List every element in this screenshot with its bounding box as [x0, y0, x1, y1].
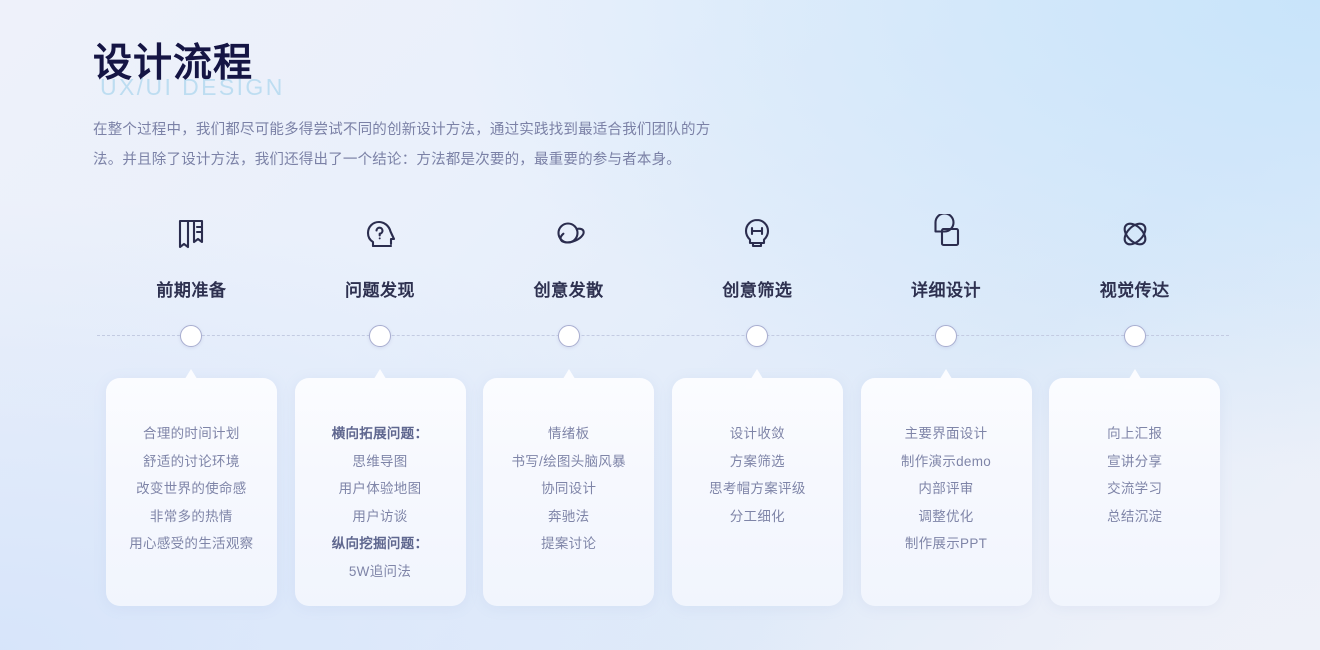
step-label: 创意发散	[534, 276, 604, 301]
planet-icon	[547, 212, 591, 256]
list-item: 用心感受的生活观察	[106, 530, 277, 558]
list-item: 改变世界的使命感	[106, 475, 277, 503]
step-1[interactable]: 前期准备	[97, 212, 286, 301]
timeline-dot[interactable]	[746, 325, 768, 347]
card-slot-3: 情绪板书写/绘图头脑风暴协同设计奔驰法提案讨论	[474, 368, 663, 606]
list-item: 调整优化	[861, 503, 1032, 531]
list-item: 向上汇报	[1049, 420, 1220, 448]
step-label: 视觉传达	[1100, 276, 1170, 301]
list-item: 设计收敛	[672, 420, 843, 448]
card-item-list: 情绪板书写/绘图头脑风暴协同设计奔驰法提案讨论	[483, 420, 654, 558]
list-item: 制作展示PPT	[861, 530, 1032, 558]
list-item: 纵向挖掘问题：	[295, 530, 466, 558]
step-card[interactable]: 合理的时间计划舒适的讨论环境改变世界的使命感非常多的热情用心感受的生活观察	[106, 378, 277, 606]
circle-square-overlap-icon	[924, 212, 968, 256]
list-item: 协同设计	[483, 475, 654, 503]
step-card[interactable]: 主要界面设计制作演示demo内部评审调整优化制作展示PPT	[861, 378, 1032, 606]
timeline-dot[interactable]	[369, 325, 391, 347]
timeline-dot-cell-2	[286, 324, 475, 348]
card-slot-1: 合理的时间计划舒适的讨论环境改变世界的使命感非常多的热情用心感受的生活观察	[97, 368, 286, 606]
timeline-dot-cell-4	[663, 324, 852, 348]
list-item: 合理的时间计划	[106, 420, 277, 448]
timeline-dot-cell-3	[474, 324, 663, 348]
card-item-list: 向上汇报宣讲分享交流学习总结沉淀	[1049, 420, 1220, 530]
list-item: 用户体验地图	[295, 475, 466, 503]
title-group: 设计流程 UX/UI DESIGN	[93, 38, 253, 102]
list-item: 主要界面设计	[861, 420, 1032, 448]
step-card[interactable]: 设计收敛方案筛选思考帽方案评级分工细化	[672, 378, 843, 606]
cards-row: 合理的时间计划舒适的讨论环境改变世界的使命感非常多的热情用心感受的生活观察横向拓…	[97, 368, 1229, 606]
card-slot-4: 设计收敛方案筛选思考帽方案评级分工细化	[663, 368, 852, 606]
list-item: 书写/绘图头脑风暴	[483, 448, 654, 476]
list-item: 舒适的讨论环境	[106, 448, 277, 476]
timeline-dot[interactable]	[180, 325, 202, 347]
step-6[interactable]: 视觉传达	[1040, 212, 1229, 301]
list-item: 情绪板	[483, 420, 654, 448]
page-header: 设计流程 UX/UI DESIGN	[93, 38, 253, 102]
card-slot-5: 主要界面设计制作演示demo内部评审调整优化制作展示PPT	[852, 368, 1041, 606]
list-item: 提案讨论	[483, 530, 654, 558]
list-item: 内部评审	[861, 475, 1032, 503]
timeline-dot-cell-5	[852, 324, 1041, 348]
step-2[interactable]: 问题发现	[286, 212, 475, 301]
card-item-list: 主要界面设计制作演示demo内部评审调整优化制作展示PPT	[861, 420, 1032, 558]
page-title: 设计流程	[93, 38, 253, 90]
steps-row: 前期准备 问题发现 创意发散	[97, 212, 1229, 301]
step-5[interactable]: 详细设计	[852, 212, 1041, 301]
step-label: 前期准备	[156, 276, 226, 301]
step-card[interactable]: 向上汇报宣讲分享交流学习总结沉淀	[1049, 378, 1220, 606]
step-label: 问题发现	[345, 276, 415, 301]
step-label: 详细设计	[911, 276, 981, 301]
list-item: 宣讲分享	[1049, 448, 1220, 476]
lightbulb-icon	[735, 212, 779, 256]
card-item-list: 横向拓展问题：思维导图用户体验地图用户访谈纵向挖掘问题：5W追问法	[295, 420, 466, 585]
list-item: 交流学习	[1049, 475, 1220, 503]
list-item: 总结沉淀	[1049, 503, 1220, 531]
step-card[interactable]: 情绪板书写/绘图头脑风暴协同设计奔驰法提案讨论	[483, 378, 654, 606]
list-item: 思考帽方案评级	[672, 475, 843, 503]
card-slot-2: 横向拓展问题：思维导图用户体验地图用户访谈纵向挖掘问题：5W追问法	[286, 368, 475, 606]
step-4[interactable]: 创意筛选	[663, 212, 852, 301]
bookmark-document-icon	[169, 212, 213, 256]
card-item-list: 设计收敛方案筛选思考帽方案评级分工细化	[672, 420, 843, 530]
list-item: 横向拓展问题：	[295, 420, 466, 448]
page-description: 在整个过程中，我们都尽可能多得尝试不同的创新设计方法，通过实践找到最适合我们团队…	[93, 115, 793, 175]
list-item: 奔驰法	[483, 503, 654, 531]
timeline-dot[interactable]	[1124, 325, 1146, 347]
timeline-dot[interactable]	[935, 325, 957, 347]
design-process-page: 设计流程 UX/UI DESIGN 在整个过程中，我们都尽可能多得尝试不同的创新…	[0, 0, 1320, 650]
list-item: 用户访谈	[295, 503, 466, 531]
list-item: 思维导图	[295, 448, 466, 476]
timeline-dot-cell-6	[1040, 324, 1229, 348]
description-line-1: 在整个过程中，我们都尽可能多得尝试不同的创新设计方法，通过实践找到最适合我们团队…	[93, 115, 793, 145]
step-3[interactable]: 创意发散	[474, 212, 663, 301]
timeline	[97, 324, 1229, 348]
description-line-2: 法。并且除了设计方法，我们还得出了一个结论：方法都是次要的，最重要的参与者本身。	[93, 145, 793, 175]
card-item-list: 合理的时间计划舒适的讨论环境改变世界的使命感非常多的热情用心感受的生活观察	[106, 420, 277, 558]
timeline-dots	[97, 324, 1229, 348]
list-item: 5W追问法	[295, 558, 466, 586]
card-slot-6: 向上汇报宣讲分享交流学习总结沉淀	[1040, 368, 1229, 606]
timeline-dot[interactable]	[558, 325, 580, 347]
head-question-icon	[358, 212, 402, 256]
list-item: 方案筛选	[672, 448, 843, 476]
timeline-dot-cell-1	[97, 324, 286, 348]
crossed-ellipses-icon	[1113, 212, 1157, 256]
list-item: 非常多的热情	[106, 503, 277, 531]
list-item: 分工细化	[672, 503, 843, 531]
step-card[interactable]: 横向拓展问题：思维导图用户体验地图用户访谈纵向挖掘问题：5W追问法	[295, 378, 466, 606]
list-item: 制作演示demo	[861, 448, 1032, 476]
step-label: 创意筛选	[722, 276, 792, 301]
